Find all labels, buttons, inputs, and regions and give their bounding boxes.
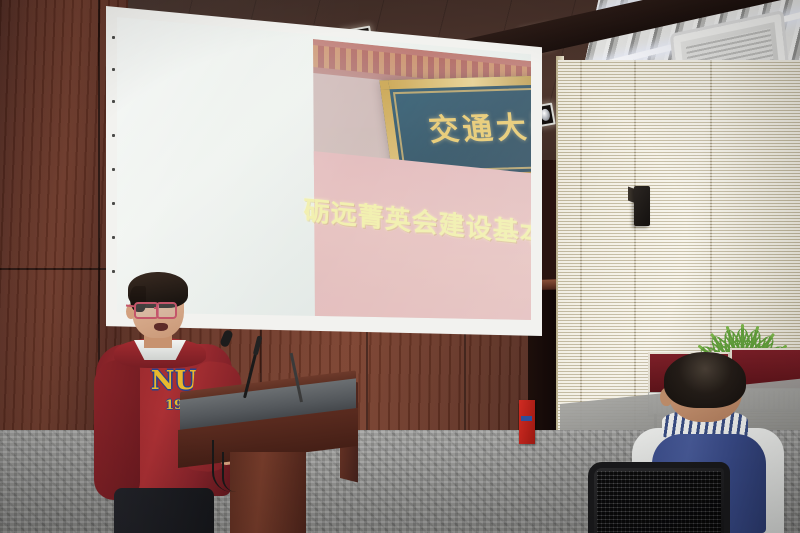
screen-mount-screw — [112, 68, 115, 71]
presenter-trousers — [114, 488, 214, 533]
attendee-hair — [664, 352, 746, 408]
screen-mount-screw — [112, 134, 115, 137]
screen-mount-screw — [112, 236, 115, 239]
podium-column — [230, 452, 306, 533]
presenter-mouth — [154, 323, 168, 331]
plaque-char: 學 — [528, 112, 531, 143]
screen-mount-screw — [112, 202, 115, 205]
screen-mount-screw — [112, 100, 115, 103]
plaque-char: 通 — [461, 114, 495, 145]
screen-mount-screw — [112, 168, 115, 171]
screen-mount-screw — [112, 36, 115, 39]
glasses-icon — [156, 302, 177, 319]
seated-attendee — [622, 356, 800, 533]
plaque-inner-frame: 交 通 大 學 — [393, 86, 531, 172]
screen-mount-screw — [112, 270, 115, 273]
plaque-char: 大 — [494, 113, 528, 144]
fire-extinguisher-box — [519, 400, 535, 444]
wall-speaker-icon — [634, 186, 650, 226]
projected-slide: 交 通 大 學 砺远菁英会建设基本情况介绍 — [313, 39, 531, 323]
presenter-left-arm — [94, 360, 140, 500]
podium-cable — [222, 452, 236, 492]
hoodie-logo-letters: NU — [151, 368, 197, 394]
glasses-bridge — [154, 307, 158, 309]
slide-body: 砺远菁英会建设基本情况介绍 — [314, 151, 531, 323]
plaque-char: 交 — [427, 115, 461, 146]
slide-title: 砺远菁英会建设基本情况介绍 — [304, 190, 531, 263]
conference-room-scene: 交 通 大 學 砺远菁英会建设基本情况介绍 NU 19 — [0, 0, 800, 533]
office-chair[interactable] — [588, 462, 730, 533]
